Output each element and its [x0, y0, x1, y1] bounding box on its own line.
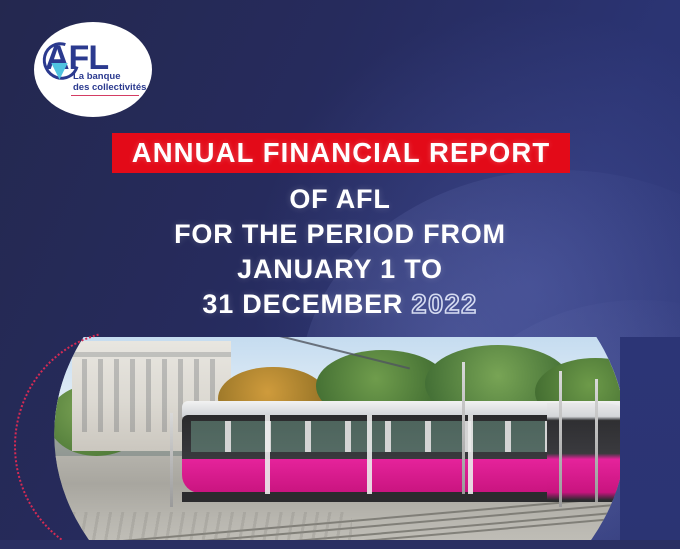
photo-pole	[559, 371, 562, 507]
logo-tagline: La banque des collectivités	[73, 71, 146, 93]
tram-door	[265, 415, 270, 494]
subtitle-line-2: FOR THE PERIOD FROM	[0, 217, 680, 252]
subtitle-block: OF AFL FOR THE PERIOD FROM JANUARY 1 TO …	[0, 182, 680, 322]
logo-underline	[71, 95, 139, 97]
logo-tagline-line-2: des collectivités	[73, 82, 146, 93]
tram-door	[468, 415, 473, 494]
tram-photograph	[36, 337, 644, 549]
logo-tagline-line-1: La banque	[73, 71, 146, 82]
background-right-fill	[620, 337, 680, 549]
afl-logo[interactable]: AFL La banque des collectivités	[34, 22, 152, 117]
logo-inner: AFL La banque des collectivités	[45, 41, 141, 99]
title-banner: ANNUAL FINANCIAL REPORT	[112, 133, 570, 173]
photo-image	[36, 337, 644, 549]
tram-door	[367, 415, 372, 494]
photo-pole	[595, 379, 598, 502]
report-cover-page: AFL La banque des collectivités ANNUAL F…	[0, 0, 680, 549]
background-bottom-fill	[0, 540, 680, 549]
subtitle-year: 2022	[412, 289, 478, 319]
photo-pole	[462, 362, 465, 493]
photo-tram	[182, 401, 644, 503]
subtitle-line-3: JANUARY 1 TO	[0, 252, 680, 287]
banner-title: ANNUAL FINANCIAL REPORT	[132, 137, 550, 169]
subtitle-line-4: 31 DECEMBER 2022	[0, 287, 680, 322]
subtitle-line-1: OF AFL	[0, 182, 680, 217]
photo-mask	[36, 337, 644, 549]
subtitle-date-text: 31 DECEMBER	[202, 289, 403, 319]
photo-pole	[170, 413, 173, 506]
